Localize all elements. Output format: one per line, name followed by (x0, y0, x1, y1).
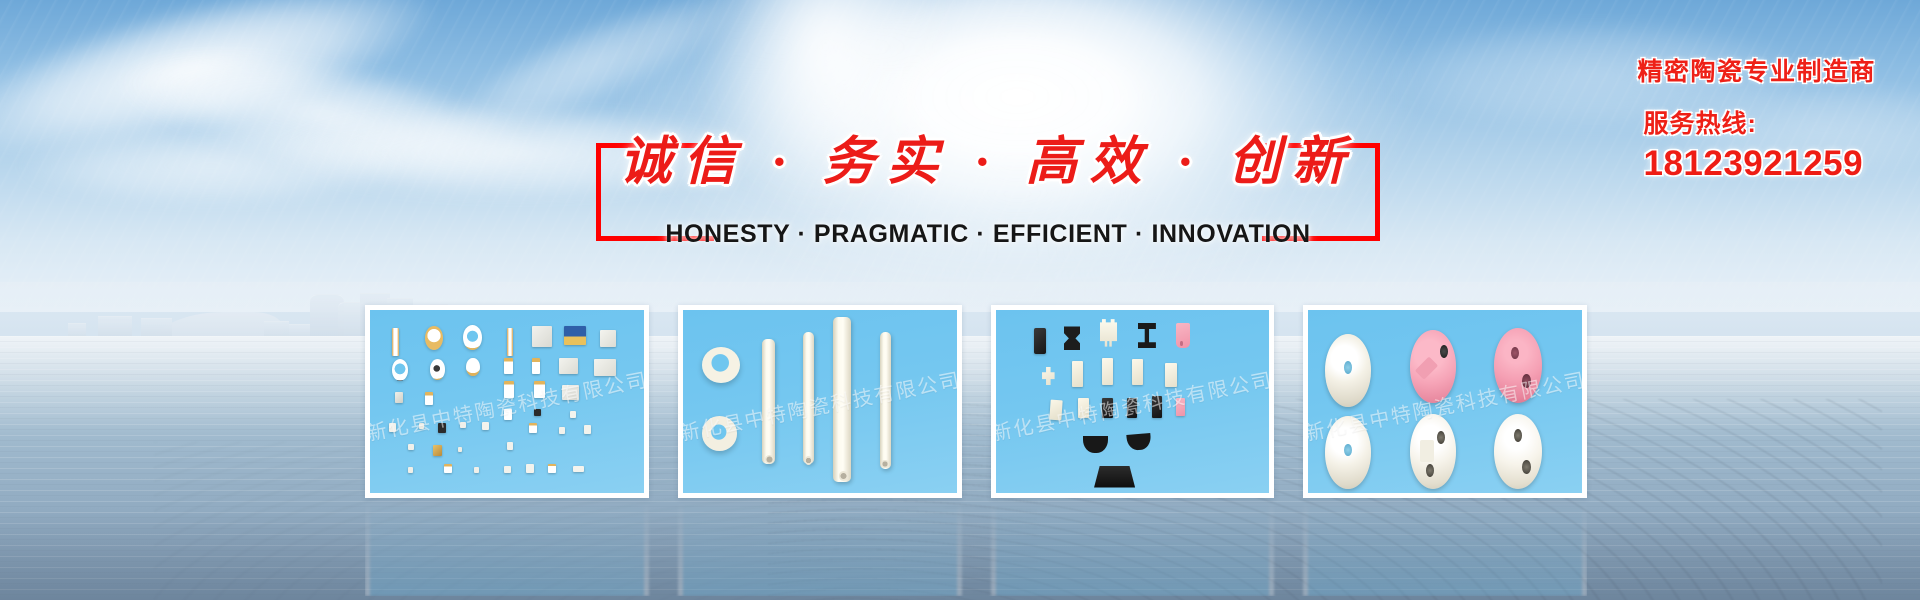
contact-block: 精密陶瓷专业制造商 服务热线: 18123921259 (1637, 52, 1876, 184)
panel-watermark: 新化县中特陶瓷科技有限公司 (370, 364, 644, 447)
product-panel[interactable]: 新化县中特陶瓷科技有限公司 (365, 305, 649, 498)
foreground-shadow (0, 510, 1920, 600)
product-panel[interactable]: 新化县中特陶瓷科技有限公司 (1303, 305, 1587, 498)
hotline-number[interactable]: 18123921259 (1643, 144, 1876, 184)
hotline-label: 服务热线: (1643, 104, 1876, 140)
company-tagline: 精密陶瓷专业制造商 (1637, 52, 1876, 88)
product-panel[interactable]: 新化县中特陶瓷科技有限公司 (678, 305, 962, 498)
panel-image-ceramic-discs: 新化县中特陶瓷科技有限公司 (1308, 310, 1582, 493)
panel-image-tubes-rods: 新化县中特陶瓷科技有限公司 (683, 310, 957, 493)
panel-image-smd-components: 新化县中特陶瓷科技有限公司 (370, 310, 644, 493)
panel-image-structural-parts: 新化县中特陶瓷科技有限公司 (996, 310, 1270, 493)
slogan-block: 诚信 · 务实 · 高效 · 创新 HONESTY · PRAGMATIC · … (596, 143, 1380, 241)
product-panel[interactable]: 新化县中特陶瓷科技有限公司 (991, 305, 1275, 498)
hero-banner: 诚信 · 务实 · 高效 · 创新 HONESTY · PRAGMATIC · … (0, 0, 1920, 600)
slogan-english: HONESTY · PRAGMATIC · EFFICIENT · INNOVA… (596, 220, 1380, 249)
slogan-chinese: 诚信 · 务实 · 高效 · 创新 (596, 119, 1380, 194)
product-panel-row: 新化县中特陶瓷科技有限公司 新化县中特陶瓷科技有限公司 (365, 305, 1587, 498)
